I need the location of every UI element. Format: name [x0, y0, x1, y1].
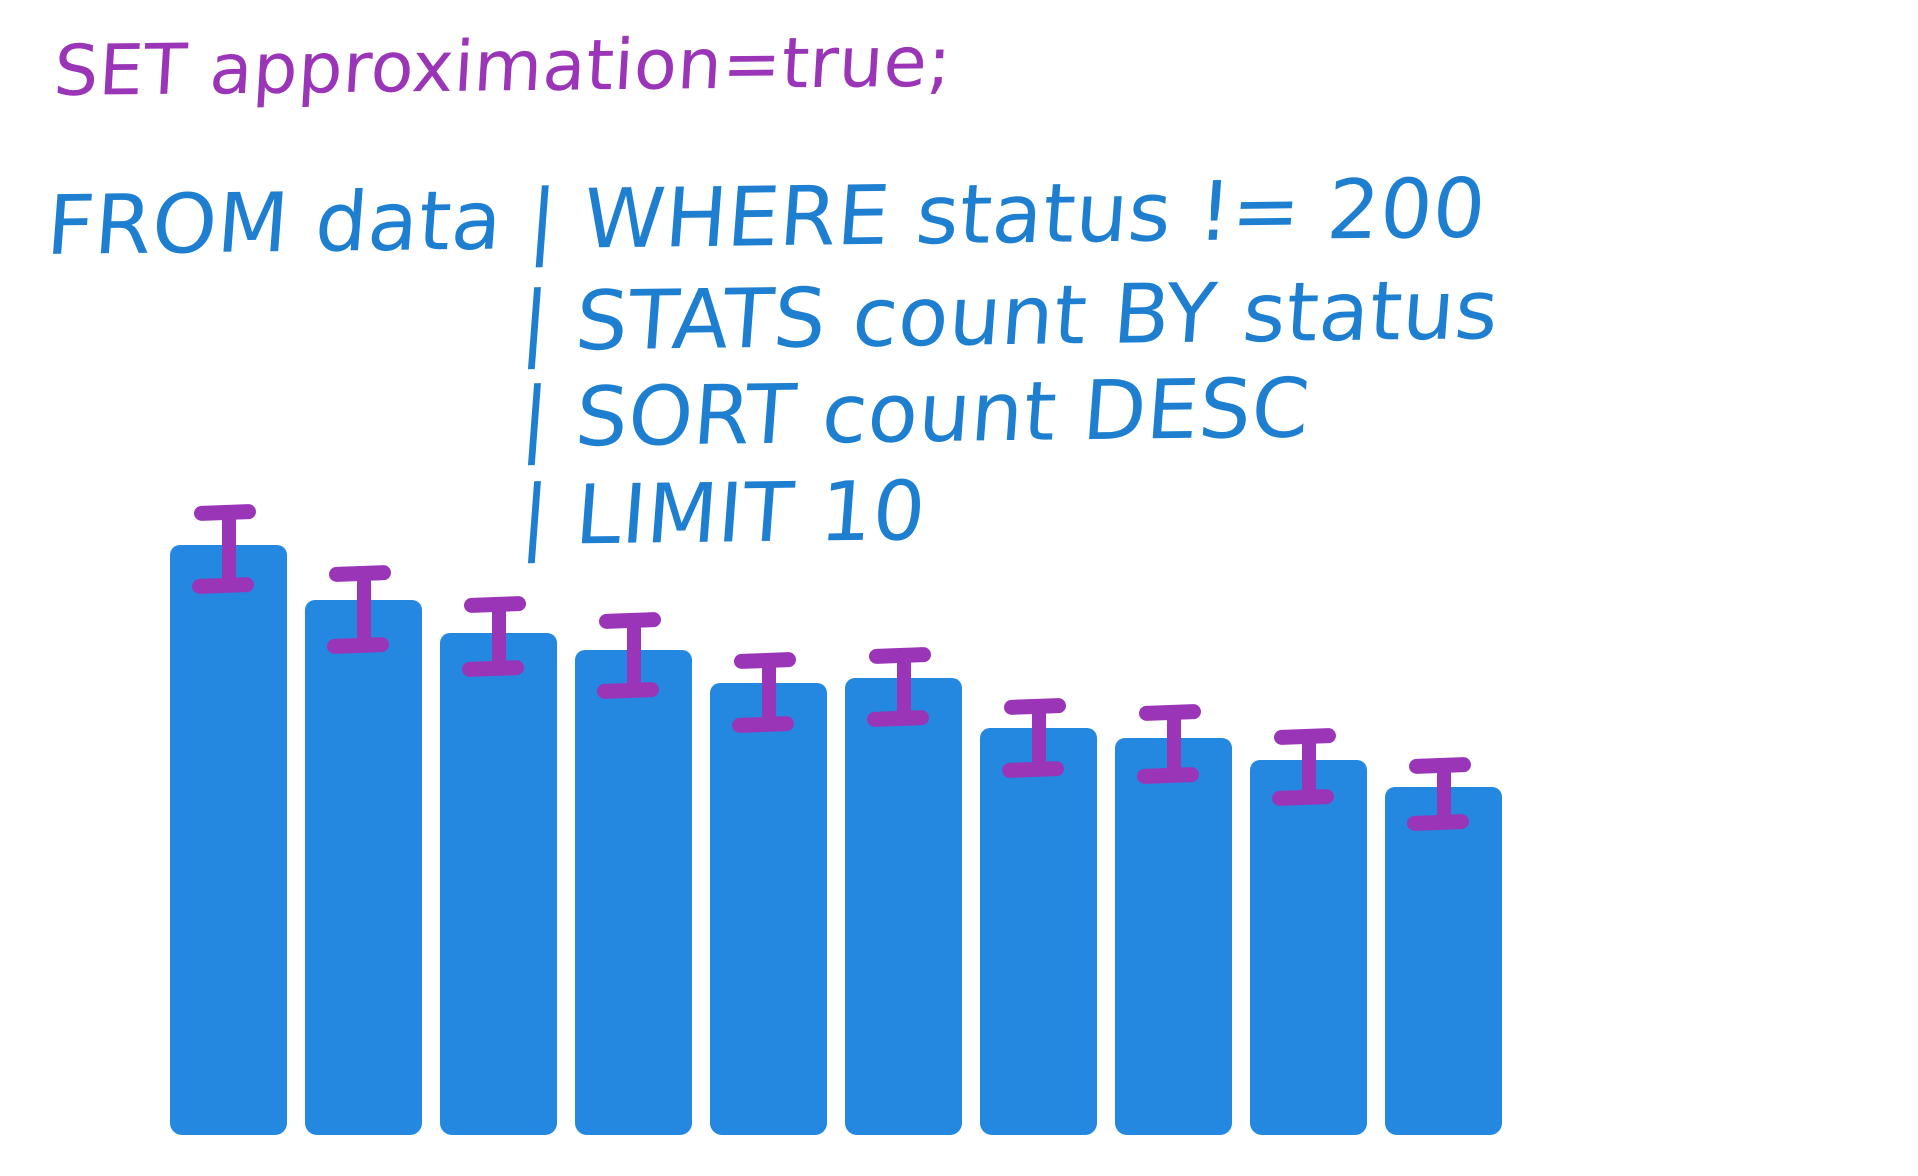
error-bar-stem-5 [762, 660, 776, 724]
error-bar-stem-1 [222, 512, 236, 585]
error-bar-lower-cap-1 [191, 576, 253, 593]
slide-canvas: SET approximation=true; FROM data | WHER… [0, 0, 1918, 1176]
error-bar-lower-cap-5 [731, 715, 793, 732]
bar-8[interactable] [1115, 738, 1232, 1135]
error-bar-upper-cap-9 [1273, 727, 1335, 744]
bar-layer [0, 0, 1918, 1176]
error-bar-upper-cap-7 [1003, 697, 1065, 714]
error-bar-stem-4 [627, 620, 641, 690]
approximate-counts-bar-chart [0, 0, 1918, 1176]
error-bar-stem-9 [1302, 736, 1316, 797]
error-bar-upper-cap-5 [733, 651, 795, 668]
error-bar-upper-cap-6 [868, 646, 930, 663]
bar-9[interactable] [1250, 760, 1367, 1135]
error-bar-stem-6 [897, 655, 911, 718]
error-bar-stem-10 [1437, 765, 1451, 822]
bar-3[interactable] [440, 633, 557, 1135]
error-bar-upper-cap-3 [463, 595, 525, 612]
error-bar-upper-cap-2 [328, 564, 390, 581]
bar-4[interactable] [575, 650, 692, 1135]
error-bar-lower-cap-6 [866, 709, 928, 726]
bar-10[interactable] [1385, 787, 1502, 1135]
bar-6[interactable] [845, 678, 962, 1135]
error-bar-lower-cap-4 [596, 681, 658, 698]
error-bar-lower-cap-8 [1136, 766, 1198, 783]
bar-1[interactable] [170, 545, 287, 1135]
error-bar-upper-cap-10 [1408, 756, 1470, 773]
error-bar-upper-cap-1 [193, 503, 255, 520]
error-bar-stem-8 [1167, 712, 1181, 775]
error-bar-stem-2 [357, 573, 371, 645]
bar-7[interactable] [980, 728, 1097, 1135]
bar-2[interactable] [305, 600, 422, 1135]
bar-5[interactable] [710, 683, 827, 1135]
error-bar-lower-cap-10 [1406, 813, 1468, 830]
error-bar-lower-cap-7 [1001, 760, 1063, 777]
error-bar-stem-7 [1032, 706, 1046, 769]
error-bar-stem-3 [492, 604, 506, 668]
error-bar-lower-cap-3 [461, 659, 523, 676]
error-bar-lower-cap-9 [1271, 788, 1333, 805]
error-bar-upper-cap-8 [1138, 703, 1200, 720]
error-bar-lower-cap-2 [326, 636, 388, 653]
error-bar-upper-cap-4 [598, 611, 660, 628]
